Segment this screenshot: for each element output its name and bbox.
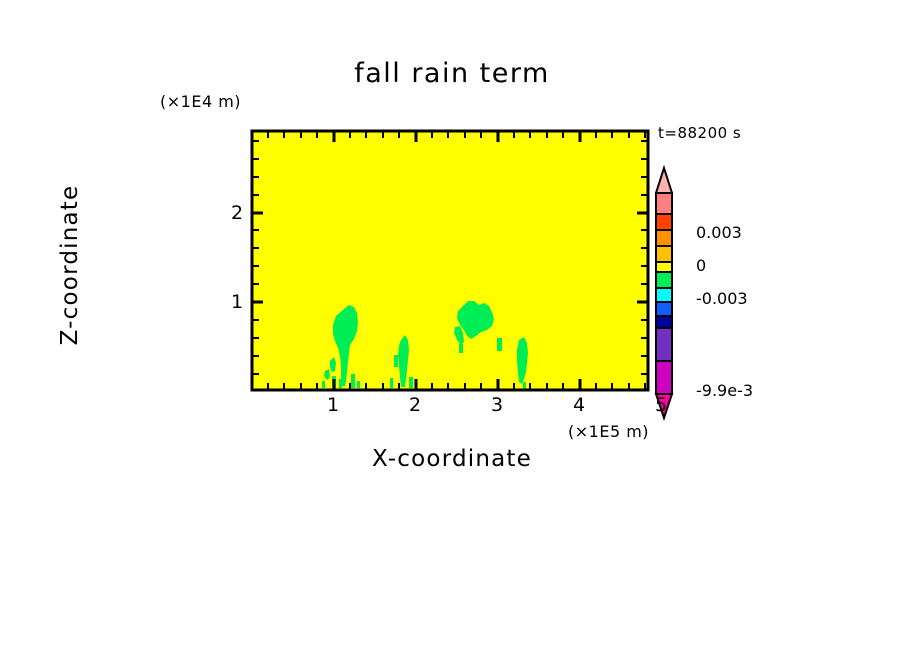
feature-plume-1-wisp-g xyxy=(322,381,325,388)
figure-canvas: fall rain term (×1E4 m) t=88200 s (×1E5 … xyxy=(0,0,904,654)
colorbar-band xyxy=(656,230,672,246)
colorbar-band xyxy=(656,246,672,262)
colorbar-tick-label: 0 xyxy=(696,256,706,275)
colorbar-tick-label: -0.003 xyxy=(696,289,748,308)
colorbar-band xyxy=(656,361,672,394)
feature-plume-1-wisp-e xyxy=(351,374,355,388)
x-tick-label: 1 xyxy=(327,394,339,416)
feature-plume-2-wisp-c xyxy=(409,377,413,388)
colorbar xyxy=(656,168,672,418)
feature-plume-1-wisp-f xyxy=(357,381,360,388)
feature-plume-2-wisp-a xyxy=(394,355,398,367)
colorbar-tick-label: -9.9e-3 xyxy=(696,381,753,400)
x-tick-label: 5 xyxy=(655,394,667,416)
feature-plume-2-wisp-b xyxy=(390,378,393,388)
y-tick-label: 1 xyxy=(231,291,243,313)
colorbar-band xyxy=(656,302,672,316)
colorbar-band xyxy=(656,288,672,302)
colorbar-band xyxy=(656,316,672,328)
colorbar-band xyxy=(656,328,672,361)
colorbar-band xyxy=(656,262,672,272)
y-tick-label: 2 xyxy=(231,202,243,224)
feature-plume-3-wisp-a xyxy=(459,344,463,353)
plot-background xyxy=(252,131,648,390)
x-tick-label: 3 xyxy=(491,394,503,416)
colorbar-tick-label: 0.003 xyxy=(696,223,742,242)
colorbar-top-arrow xyxy=(656,168,672,193)
feature-plume-1-wisp-d xyxy=(339,379,342,388)
x-tick-label: 2 xyxy=(409,394,421,416)
feature-speck-4 xyxy=(497,338,502,351)
feature-plume-5-wisp-a xyxy=(523,382,526,389)
x-tick-label: 4 xyxy=(573,394,585,416)
colorbar-band xyxy=(656,193,672,214)
contour-plot-area xyxy=(0,0,904,654)
colorbar-band xyxy=(656,214,672,230)
colorbar-band xyxy=(656,272,672,288)
